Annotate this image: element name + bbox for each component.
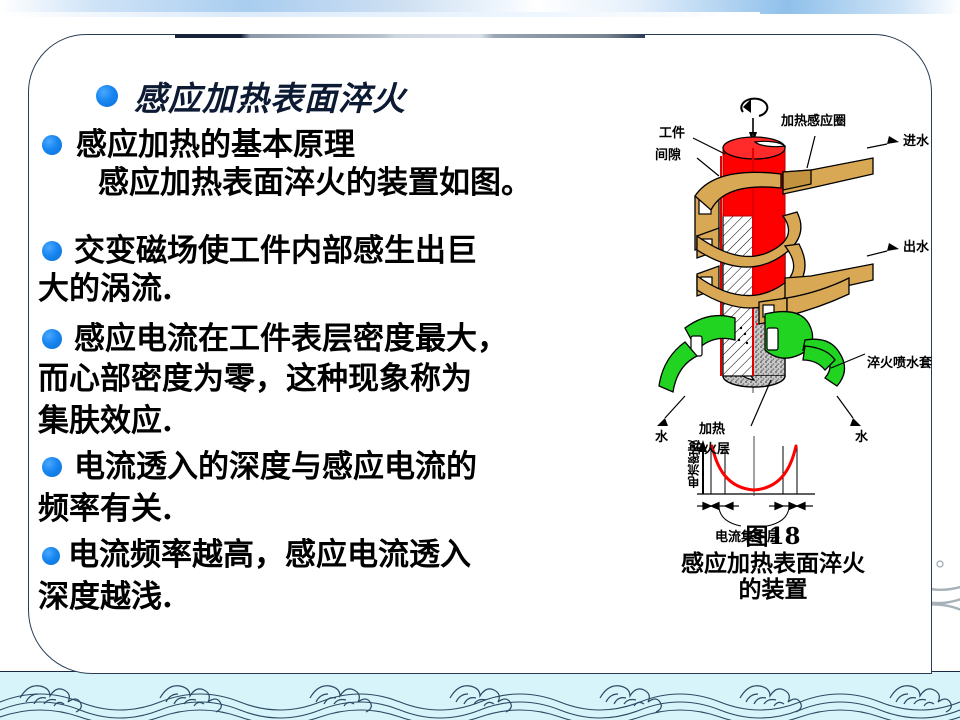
bullet-5-line-1: 电流频率越高，感应电流透入: [68, 539, 471, 572]
bullet-2-line-1: 交变磁场使工件内部感生出巨: [74, 235, 477, 268]
bullet-item-5: 电流频率越高，感应电流透入: [42, 539, 471, 572]
bullet-item-4: 电流透入的深度与感应电流的: [42, 451, 477, 484]
bullet-3-line-1: 感应电流在工件表层密度最大，: [74, 323, 508, 356]
card-top-sheen: [175, 34, 645, 38]
slide-canvas: 感应加热表面淬火 感应加热的基本原理 感应加热表面淬火的装置如图。 交变磁场使工…: [0, 0, 960, 720]
bullet-1-continuation: 感应加热表面淬火的装置如图。: [98, 167, 532, 200]
rotation-arrow-icon: [741, 99, 767, 116]
bullet-dot-icon: [42, 457, 62, 477]
slide-heading: 感应加热表面淬火: [96, 72, 406, 120]
bullet-2-continuation: 大的涡流.: [38, 273, 173, 306]
wave-decoration-band: [0, 671, 960, 720]
bullet-4-continuation: 频率有关.: [38, 493, 173, 526]
chart-y-axis-label: 电流密度: [685, 440, 702, 488]
label-water-in: 进水: [903, 130, 929, 149]
heading-text: 感应加热表面淬火: [134, 72, 406, 120]
bullet-dot-icon: [42, 547, 60, 565]
caption-number: 图18: [638, 524, 908, 551]
bullet-item-1: 感应加热的基本原理: [42, 129, 355, 162]
bullet-item-2: 交变磁场使工件内部感生出巨: [42, 235, 477, 268]
bullet-item-3: 感应电流在工件表层密度最大，: [42, 323, 508, 356]
bullet-3-continuation-a: 而心部密度为零，这种现象称为: [38, 363, 472, 396]
bullet-4-line-2: 频率有关.: [38, 491, 173, 527]
bullet-dot-icon: [42, 135, 62, 155]
label-water-out: 出水: [903, 236, 929, 255]
caption-line-2: 的装置: [638, 577, 908, 604]
bullet-1-line-1: 感应加热的基本原理: [76, 129, 355, 162]
bullet-dot-icon: [42, 241, 62, 261]
label-coil: 加热感应圈: [781, 110, 846, 129]
label-gap: 间隙: [655, 144, 681, 163]
bullet-1-line-2: 感应加热表面淬火的装置如图。: [98, 165, 532, 201]
bullet-3-continuation-b: 集肤效应.: [38, 405, 173, 438]
bullet-2-line-2: 大的涡流.: [38, 271, 173, 307]
bullet-5-line-2: 深度越浅.: [38, 579, 173, 615]
bullet-dot-icon: [42, 329, 62, 349]
figure-caption: 图18 感应加热表面淬火 的装置: [638, 524, 908, 604]
top-gradient-band-secondary: [0, 12, 760, 17]
label-workpiece: 工件: [659, 122, 685, 141]
label-spray-jacket: 淬火喷水套: [867, 352, 932, 371]
bullet-3-line-2: 而心部密度为零，这种现象称为: [38, 361, 472, 397]
caption-line-1: 感应加热表面淬火: [638, 551, 908, 578]
induction-hardening-diagram: 工件 间隙 加热感应圈 进水 出水 淬火喷水套 水 水 加热 淬火层 电流密度 …: [655, 96, 955, 536]
bullet-4-line-1: 电流透入的深度与感应电流的: [74, 451, 477, 484]
label-water-right: 水: [855, 426, 868, 445]
bullet-5-continuation: 深度越浅.: [38, 581, 173, 614]
bullet-3-line-3: 集肤效应.: [38, 403, 173, 439]
bullet-dot-icon: [96, 85, 118, 107]
label-hardened-layer-line1: 加热: [699, 418, 725, 437]
label-water-left: 水: [655, 426, 668, 445]
